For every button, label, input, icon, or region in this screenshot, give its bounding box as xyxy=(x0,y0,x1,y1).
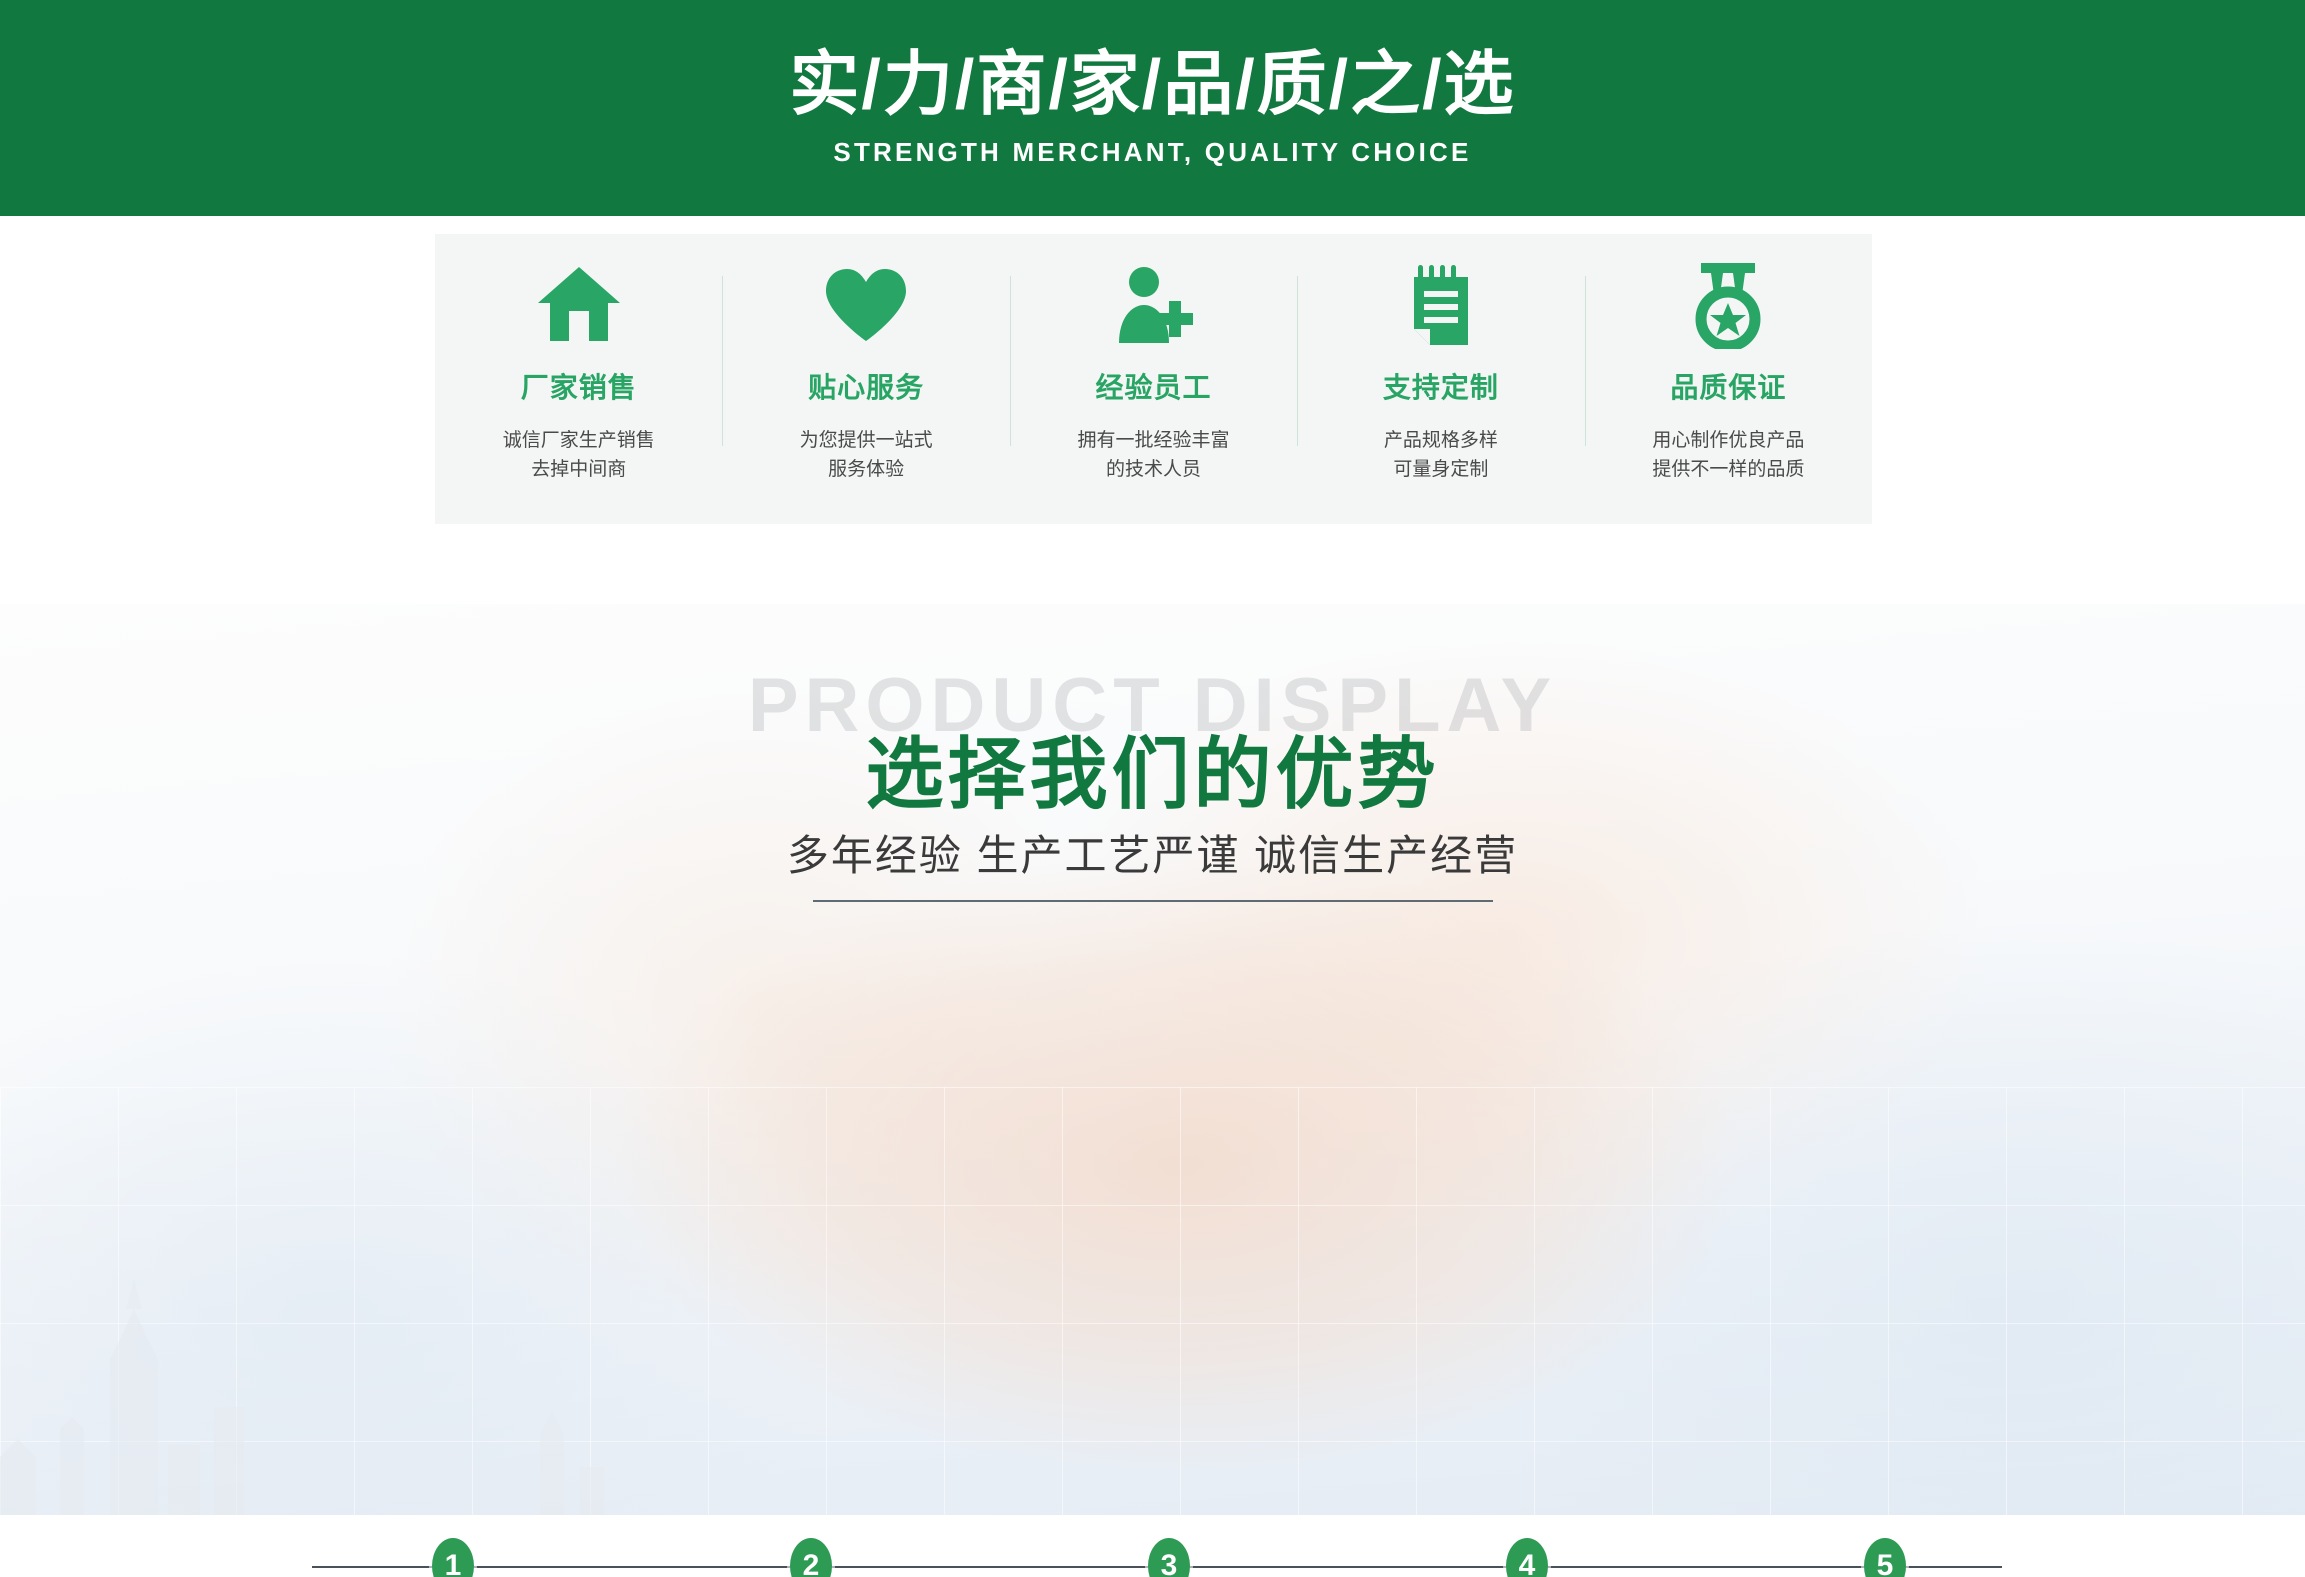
house-icon xyxy=(536,256,622,354)
feature-item-4[interactable]: 支持定制 产品规格多样 可量身定制 xyxy=(1297,234,1584,485)
feature-desc-line2: 可量身定制 xyxy=(1393,459,1488,480)
feature-title: 厂家销售 xyxy=(521,366,637,406)
title-underline xyxy=(813,900,1493,902)
feature-desc-line1: 用心制作优良产品 xyxy=(1652,430,1804,451)
feature-desc-line2: 服务体验 xyxy=(828,459,904,480)
banner-title: 实/力/商/家/品/质/之/选 xyxy=(789,49,1515,119)
features-section: 厂家销售 诚信厂家生产销售 去掉中间商 贴心服务 为您提供一站式 服务体验 xyxy=(0,216,2305,604)
heart-icon xyxy=(824,256,908,354)
feature-title: 品质保证 xyxy=(1670,366,1786,406)
feature-desc-line2: 提供不一样的品质 xyxy=(1652,459,1804,480)
feature-item-3[interactable]: 经验员工 拥有一批经验丰富 的技术人员 xyxy=(1010,234,1297,485)
feature-desc-line1: 拥有一批经验丰富 xyxy=(1078,430,1230,451)
feature-title: 贴心服务 xyxy=(808,366,924,406)
feature-desc: 用心制作优良产品 提供不一样的品质 xyxy=(1652,426,1804,485)
advantage-section: PRODUCT DISPLAY 选择我们的优势 多年经验 生产工艺严谨 诚信生产… xyxy=(0,604,2305,1577)
banner-subtitle: STRENGTH MERCHANT, QUALITY CHOICE xyxy=(833,137,1471,168)
feature-desc: 为您提供一站式 服务体验 xyxy=(800,426,933,485)
city-skyline-silhouette xyxy=(0,1239,620,1519)
feature-desc: 诚信厂家生产销售 去掉中间商 xyxy=(503,426,655,485)
medal-icon xyxy=(1689,256,1767,354)
feature-item-1[interactable]: 厂家销售 诚信厂家生产销售 去掉中间商 xyxy=(435,234,722,485)
feature-title: 支持定制 xyxy=(1383,366,1499,406)
page-banner: 实/力/商/家/品/质/之/选 STRENGTH MERCHANT, QUALI… xyxy=(0,0,2305,216)
feature-item-5[interactable]: 品质保证 用心制作优良产品 提供不一样的品质 xyxy=(1585,234,1872,485)
user-plus-icon xyxy=(1111,256,1197,354)
feature-title: 经验员工 xyxy=(1096,366,1212,406)
features-panel: 厂家销售 诚信厂家生产销售 去掉中间商 贴心服务 为您提供一站式 服务体验 xyxy=(435,234,1872,524)
feature-desc-line2: 去掉中间商 xyxy=(531,459,626,480)
steps-timeline: 1 2 3 4 5 xyxy=(312,1566,2002,1568)
notepad-icon xyxy=(1408,256,1474,354)
advantage-subtitle: 多年经验 生产工艺严谨 诚信生产经营 xyxy=(0,822,2305,883)
advantage-title: 选择我们的优势 xyxy=(0,712,2305,824)
feature-desc: 拥有一批经验丰富 的技术人员 xyxy=(1078,426,1230,485)
feature-desc-line1: 产品规格多样 xyxy=(1384,430,1498,451)
feature-desc: 产品规格多样 可量身定制 xyxy=(1384,426,1498,485)
feature-item-2[interactable]: 贴心服务 为您提供一站式 服务体验 xyxy=(722,234,1009,485)
product-detail-page: 实/力/商/家/品/质/之/选 STRENGTH MERCHANT, QUALI… xyxy=(0,0,2305,1577)
feature-desc-line2: 的技术人员 xyxy=(1106,459,1201,480)
feature-desc-line1: 诚信厂家生产销售 xyxy=(503,430,655,451)
feature-desc-line1: 为您提供一站式 xyxy=(800,430,933,451)
